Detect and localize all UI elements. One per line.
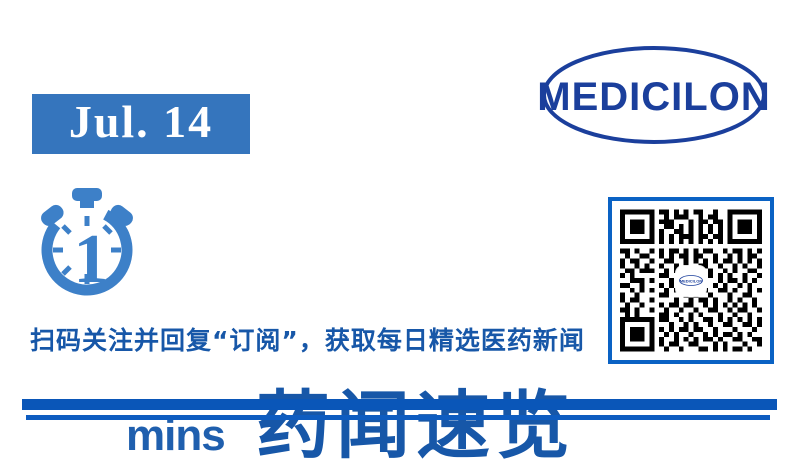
- footer-bar-thick: [22, 399, 777, 410]
- mins-label: mins: [126, 414, 225, 458]
- svg-text:MEDICILON: MEDICILON: [537, 75, 770, 119]
- qr-code-frame[interactable]: MEDICILON: [608, 197, 774, 364]
- svg-text:MEDICILON: MEDICILON: [680, 279, 703, 284]
- medicilon-logo: MEDICILON: [528, 42, 780, 148]
- footer-bar-thin: [26, 415, 770, 420]
- stopwatch-icon: 1: [34, 186, 142, 298]
- hero-title: 药闻速览: [256, 384, 576, 469]
- date-badge-label: Jul. 14: [69, 99, 213, 145]
- qr-center-logo: MEDICILON: [676, 266, 706, 296]
- poster-canvas: Jul. 14 MEDICILON: [0, 0, 800, 468]
- subtitle-text: 扫码关注并回复“订阅”，获取每日精选医药新闻: [30, 326, 585, 356]
- svg-text:1: 1: [74, 221, 109, 298]
- date-badge: Jul. 14: [32, 94, 250, 154]
